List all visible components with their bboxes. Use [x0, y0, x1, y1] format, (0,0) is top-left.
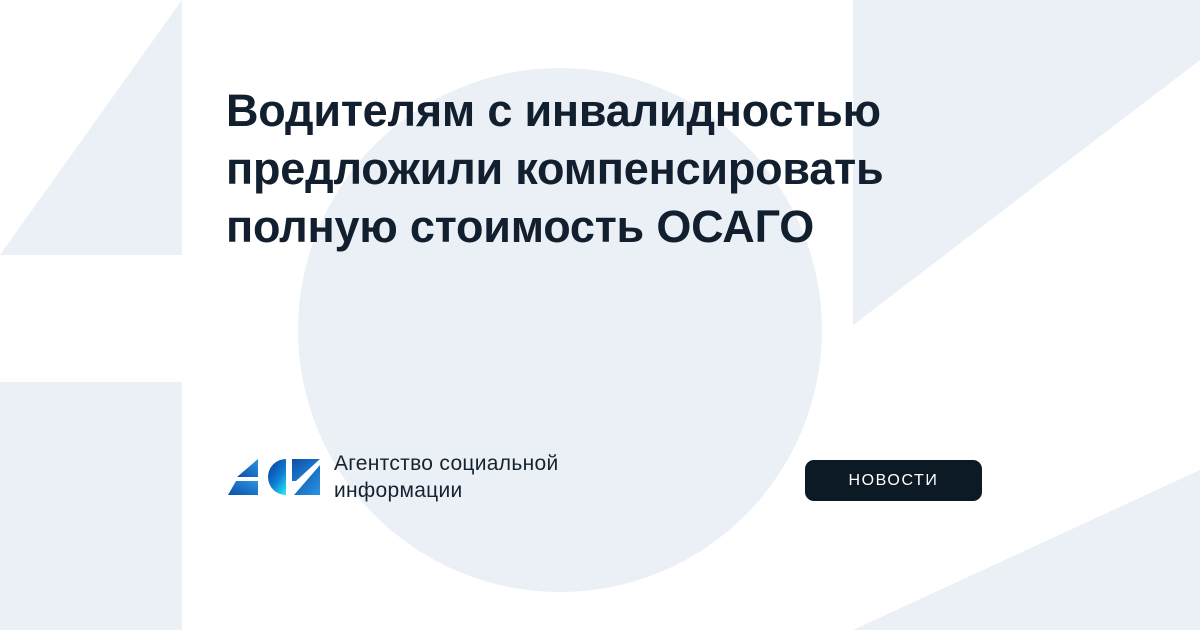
- logo-letter-c-disc: [268, 459, 286, 495]
- news-badge[interactable]: НОВОСТИ: [805, 460, 982, 501]
- watermark-rect-a-base: [0, 382, 182, 630]
- logo-letter-a-bar: [228, 481, 258, 495]
- logo-wordmark: Агентство социальной информации: [334, 450, 558, 504]
- logo-letter-a-triangle: [237, 459, 258, 477]
- watermark-triangle-a-slope: [0, 0, 182, 255]
- watermark-triangle-a: [0, 0, 182, 255]
- headline: Водителям с инвалидностью предложили ком…: [226, 82, 1056, 256]
- asi-logo-mark-icon: [228, 451, 320, 503]
- site-logo[interactable]: Агентство социальной информации: [228, 450, 558, 504]
- news-share-card: Водителям с инвалидностью предложили ком…: [0, 0, 1200, 630]
